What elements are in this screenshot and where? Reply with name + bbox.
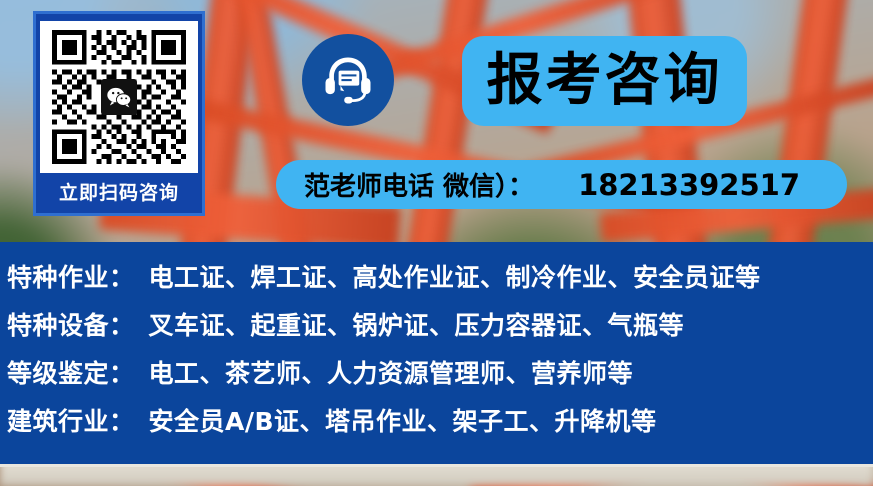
headset-support-icon [302, 34, 394, 126]
category-label: 等级鉴定： [7, 354, 135, 390]
category-items: 安全员A/B证、塔吊作业、架子工、升降机等 [149, 402, 657, 438]
contact-pill[interactable]: 范老师电话 微信）： 18213392517 [276, 160, 847, 209]
headline-text: 报考咨询 [487, 53, 723, 109]
category-items: 叉车证、起重证、锅炉证、压力容器证、气瓶等 [149, 306, 685, 342]
headset-icon-glyph [318, 50, 378, 110]
headline-pill: 报考咨询 [462, 36, 747, 126]
qr-caption: 立即扫码咨询 [59, 173, 179, 213]
category-row: 特种作业： 电工证、焊工证、高处作业证、制冷作业、安全员证等 [7, 258, 873, 306]
contact-phone-number[interactable]: 18213392517 [578, 168, 800, 202]
qr-code[interactable] [40, 21, 198, 173]
category-items: 电工、茶艺师、人力资源管理师、营养师等 [149, 354, 634, 390]
category-row: 特种设备： 叉车证、起重证、锅炉证、压力容器证、气瓶等 [7, 306, 873, 354]
wechat-logo-icon [106, 86, 132, 108]
category-items: 电工证、焊工证、高处作业证、制冷作业、安全员证等 [149, 258, 761, 294]
contact-label: 范老师电话 微信）： [304, 166, 534, 203]
category-row: 等级鉴定： 电工、茶艺师、人力资源管理师、营养师等 [7, 354, 873, 402]
qr-card[interactable]: 立即扫码咨询 [33, 11, 205, 216]
panel-bottom-divider [0, 464, 873, 467]
categories-panel: 特种作业： 电工证、焊工证、高处作业证、制冷作业、安全员证等 特种设备： 叉车证… [0, 242, 873, 464]
category-label: 特种设备： [7, 306, 135, 342]
qr-center-logo [101, 79, 137, 115]
category-label: 建筑行业： [7, 402, 135, 438]
category-label: 特种作业： [7, 258, 135, 294]
category-row: 建筑行业： 安全员A/B证、塔吊作业、架子工、升降机等 [7, 402, 873, 450]
promo-poster: 立即扫码咨询 报考咨询 范老师电话 微信）： 18213392517 特种作业：… [0, 0, 873, 486]
